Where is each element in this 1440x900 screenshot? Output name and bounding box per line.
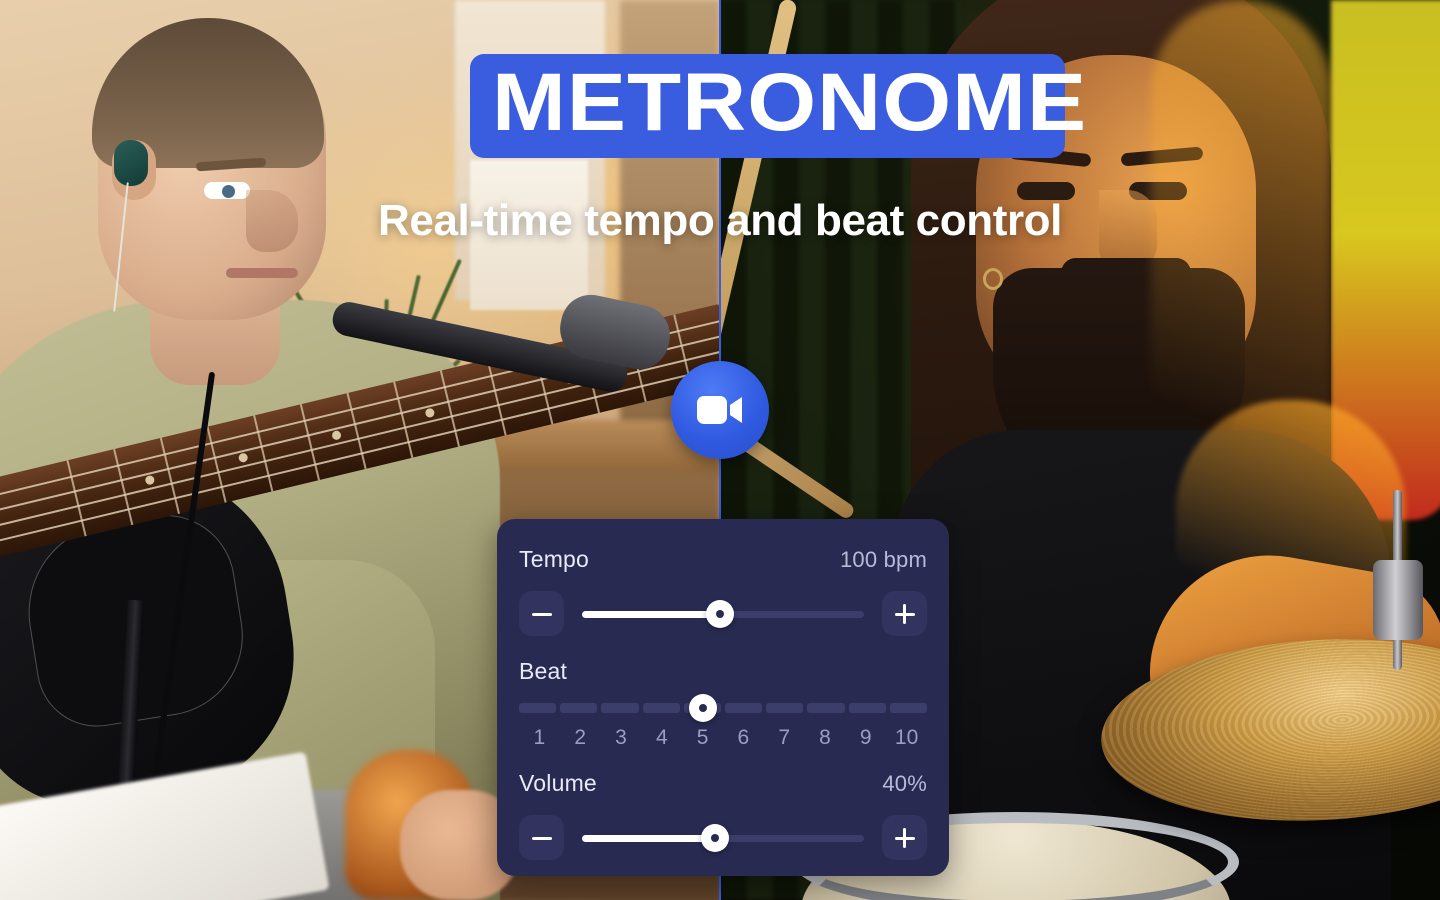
- guitar-fret: [300, 404, 320, 480]
- volume-label: Volume: [519, 770, 597, 797]
- beat-segment[interactable]: [560, 703, 597, 713]
- beat-slider[interactable]: 12345678910: [519, 703, 927, 750]
- tempo-control: Tempo 100 bpm: [519, 546, 927, 636]
- beat-segment[interactable]: [519, 703, 556, 713]
- beat-segment[interactable]: [890, 703, 927, 713]
- beat-tick: 8: [805, 726, 846, 750]
- tempo-increment-button[interactable]: [882, 591, 927, 636]
- minus-icon: [532, 828, 552, 848]
- plus-icon: [895, 828, 915, 848]
- beat-header: Beat: [519, 658, 927, 685]
- guitar-fret: [440, 370, 460, 446]
- beat-segment[interactable]: [766, 703, 803, 713]
- guitar-fret: [206, 426, 226, 502]
- guitar-fret: [113, 449, 133, 525]
- volume-slider-thumb[interactable]: [701, 824, 729, 852]
- beat-label: Beat: [519, 658, 567, 685]
- beat-segment[interactable]: [849, 703, 886, 713]
- beat-segment[interactable]: [601, 703, 638, 713]
- page-title: METRONOME: [492, 64, 1087, 142]
- beat-tick-labels: 12345678910: [519, 726, 927, 750]
- volume-row: [519, 815, 927, 860]
- tempo-decrement-button[interactable]: [519, 591, 564, 636]
- tempo-slider-fill: [582, 611, 720, 618]
- bassist-mouth: [226, 268, 298, 278]
- guitar-fret: [487, 359, 507, 435]
- guitar-fret: [160, 438, 180, 514]
- beat-segment[interactable]: [725, 703, 762, 713]
- tempo-slider[interactable]: [582, 601, 864, 627]
- beat-tick: 6: [723, 726, 764, 750]
- fret-inlay-dot: [331, 430, 342, 441]
- earbud: [114, 140, 148, 186]
- earring: [983, 268, 1003, 290]
- tempo-slider-thumb[interactable]: [706, 600, 734, 628]
- metronome-control-panel: Tempo 100 bpm Beat: [497, 519, 949, 876]
- beat-tick: 3: [601, 726, 642, 750]
- beat-tick: 10: [886, 726, 927, 750]
- minus-icon: [532, 604, 552, 624]
- beat-tick: 7: [764, 726, 805, 750]
- page-subtitle: Real-time tempo and beat control: [0, 196, 1440, 246]
- volume-value: 40%: [882, 771, 927, 797]
- video-camera-button[interactable]: [671, 361, 769, 459]
- guitar-fret: [66, 460, 86, 536]
- volume-decrement-button[interactable]: [519, 815, 564, 860]
- beat-slider-track[interactable]: [519, 703, 927, 713]
- guitar-fret: [253, 415, 273, 491]
- beat-control: Beat 12345678910: [519, 658, 927, 750]
- volume-increment-button[interactable]: [882, 815, 927, 860]
- beat-tick: 4: [641, 726, 682, 750]
- video-camera-icon: [697, 394, 743, 426]
- volume-header: Volume 40%: [519, 770, 927, 797]
- tempo-row: [519, 591, 927, 636]
- page-title-badge: METRONOME: [470, 54, 1065, 158]
- beat-segment[interactable]: [807, 703, 844, 713]
- plus-icon: [895, 604, 915, 624]
- beat-slider-thumb[interactable]: [689, 694, 717, 722]
- hihat-clutch-nut: [1373, 560, 1423, 640]
- beat-tick: 5: [682, 726, 723, 750]
- beat-segment[interactable]: [643, 703, 680, 713]
- guitar-fret: [347, 393, 367, 469]
- guitar-fret: [393, 382, 413, 458]
- screen-root: METRONOME Real-time tempo and beat contr…: [0, 0, 1440, 900]
- volume-slider-fill: [582, 835, 715, 842]
- volume-control: Volume 40%: [519, 770, 927, 860]
- fret-inlay-dot: [424, 407, 435, 418]
- tempo-label: Tempo: [519, 546, 589, 573]
- tempo-header: Tempo 100 bpm: [519, 546, 927, 573]
- tempo-value: 100 bpm: [840, 547, 927, 573]
- beat-tick: 1: [519, 726, 560, 750]
- fret-inlay-dot: [238, 452, 249, 463]
- fret-inlay-dot: [144, 475, 155, 486]
- beat-tick: 9: [845, 726, 886, 750]
- volume-slider[interactable]: [582, 825, 864, 851]
- beat-tick: 2: [560, 726, 601, 750]
